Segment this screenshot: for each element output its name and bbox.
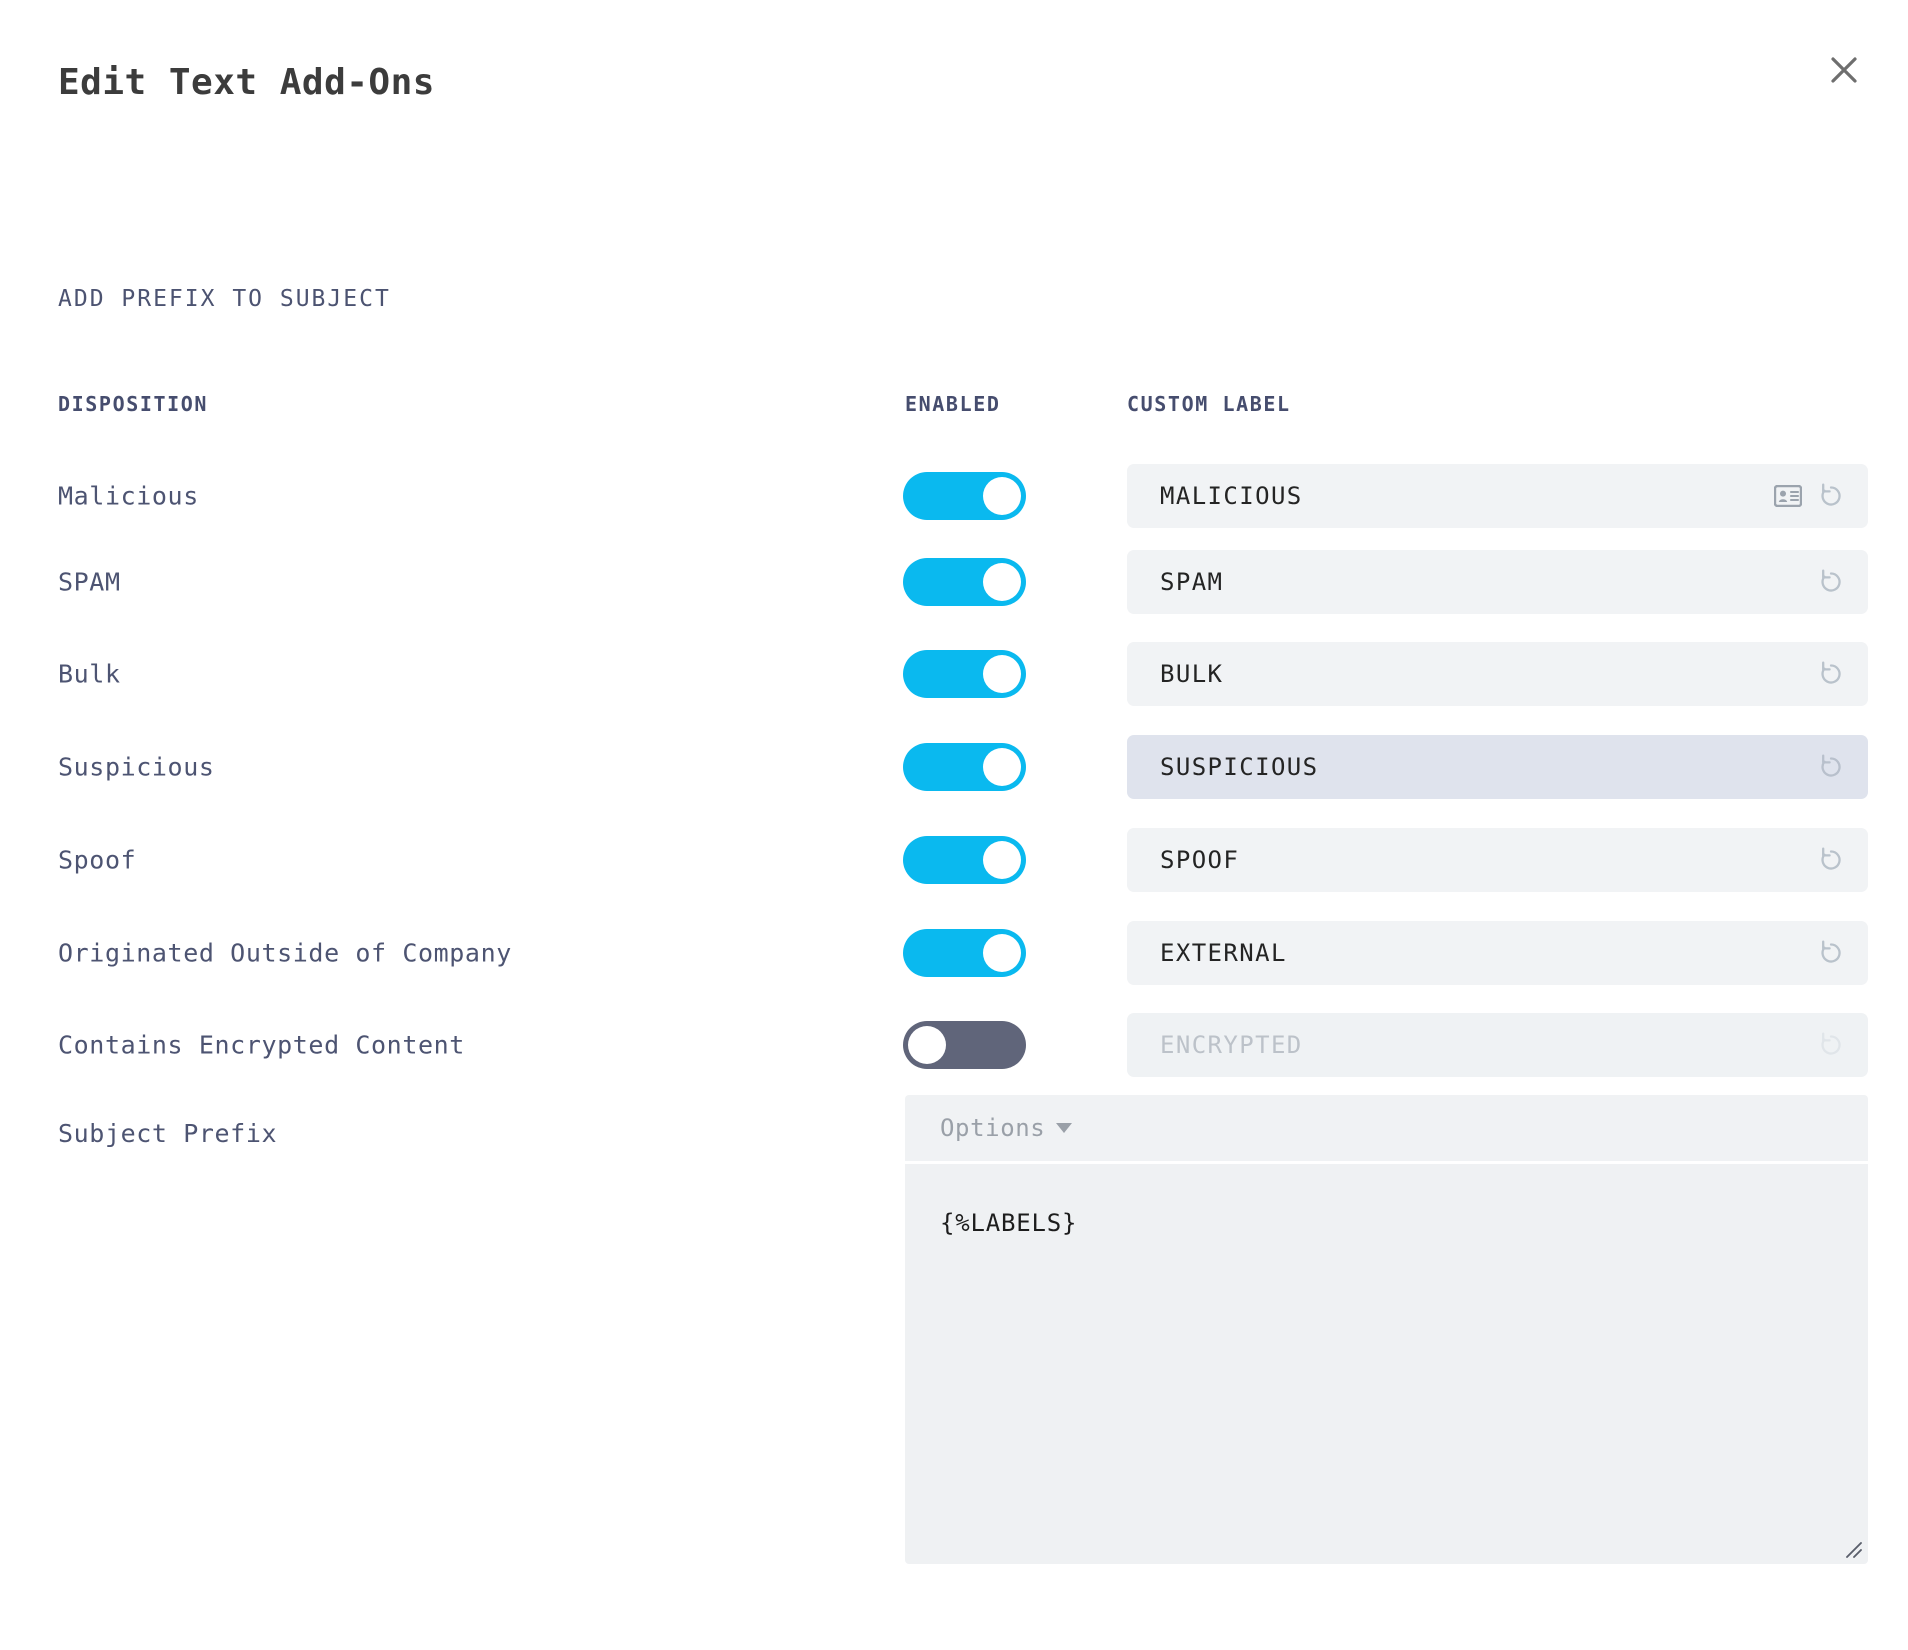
- subject-prefix-textarea[interactable]: {%LABELS}: [905, 1164, 1868, 1564]
- toggle-enabled-spoof[interactable]: [903, 836, 1026, 884]
- chevron-down-icon: [1056, 1123, 1072, 1133]
- reset-icon[interactable]: [1816, 845, 1846, 875]
- custom-label-input-spam[interactable]: SPAM: [1127, 550, 1868, 614]
- page-title: Edit Text Add-Ons: [58, 62, 435, 103]
- custom-label-value: SPAM: [1160, 568, 1223, 596]
- column-header-custom-label: CUSTOM LABEL: [1127, 392, 1291, 416]
- toggle-knob: [983, 841, 1021, 879]
- custom-label-value: MALICIOUS: [1160, 482, 1303, 510]
- editor-toolbar: Options: [905, 1095, 1868, 1161]
- table-row: SPAM SPAM: [0, 544, 1908, 620]
- table-row: Suspicious SUSPICIOUS: [0, 729, 1908, 805]
- edit-text-addons-dialog: Edit Text Add-Ons ADD PREFIX TO SUBJECT …: [0, 0, 1908, 1650]
- custom-label-value: BULK: [1160, 660, 1223, 688]
- reset-icon[interactable]: [1816, 938, 1846, 968]
- row-label-disposition: Malicious: [58, 482, 199, 511]
- toggle-knob: [983, 655, 1021, 693]
- close-button[interactable]: [1818, 44, 1870, 96]
- table-row: Spoof SPOOF: [0, 822, 1908, 898]
- custom-label-input-spoof[interactable]: SPOOF: [1127, 828, 1868, 892]
- custom-label-value: SPOOF: [1160, 846, 1239, 874]
- toggle-knob: [908, 1026, 946, 1064]
- reset-icon[interactable]: [1816, 567, 1846, 597]
- field-icon-group: [1816, 938, 1846, 968]
- reset-icon[interactable]: [1816, 481, 1846, 511]
- row-label-disposition: Originated Outside of Company: [58, 939, 512, 968]
- row-label-disposition: Contains Encrypted Content: [58, 1031, 465, 1060]
- subject-prefix-label: Subject Prefix: [58, 1119, 277, 1148]
- field-icon-group: [1816, 752, 1846, 782]
- custom-label-input-bulk[interactable]: BULK: [1127, 642, 1868, 706]
- toggle-knob: [983, 934, 1021, 972]
- custom-label-value: EXTERNAL: [1160, 939, 1287, 967]
- field-icon-group: [1816, 659, 1846, 689]
- reset-icon[interactable]: [1816, 659, 1846, 689]
- section-heading: ADD PREFIX TO SUBJECT: [58, 286, 391, 312]
- custom-label-input-malicious[interactable]: MALICIOUS: [1127, 464, 1868, 528]
- row-label-disposition: Spoof: [58, 846, 136, 875]
- custom-label-value: SUSPICIOUS: [1160, 753, 1319, 781]
- table-row: Contains Encrypted Content ENCRYPTED: [0, 1007, 1908, 1083]
- toggle-knob: [983, 477, 1021, 515]
- field-icon-group: [1816, 567, 1846, 597]
- toggle-knob: [983, 563, 1021, 601]
- custom-label-input-suspicious[interactable]: SUSPICIOUS: [1127, 735, 1868, 799]
- subject-prefix-textarea-value: {%LABELS}: [940, 1209, 1077, 1237]
- options-dropdown-button[interactable]: Options: [940, 1114, 1072, 1142]
- id-card-icon[interactable]: [1774, 485, 1802, 507]
- table-row: Bulk BULK: [0, 636, 1908, 712]
- resize-handle-icon[interactable]: [1841, 1537, 1863, 1559]
- options-label: Options: [940, 1114, 1045, 1142]
- field-icon-group: [1816, 845, 1846, 875]
- custom-label-input-encrypted: ENCRYPTED: [1127, 1013, 1868, 1077]
- column-header-enabled: ENABLED: [905, 392, 1001, 416]
- toggle-enabled-encrypted[interactable]: [903, 1021, 1026, 1069]
- toggle-enabled-spam[interactable]: [903, 558, 1026, 606]
- field-icon-group: [1816, 1030, 1846, 1060]
- column-header-disposition: DISPOSITION: [58, 392, 208, 416]
- toggle-enabled-bulk[interactable]: [903, 650, 1026, 698]
- field-icon-group: [1774, 481, 1846, 511]
- custom-label-value: ENCRYPTED: [1160, 1031, 1303, 1059]
- toggle-knob: [983, 748, 1021, 786]
- reset-icon[interactable]: [1816, 752, 1846, 782]
- toggle-enabled-suspicious[interactable]: [903, 743, 1026, 791]
- table-row: Malicious MALICIOUS: [0, 458, 1908, 534]
- row-label-disposition: Suspicious: [58, 753, 215, 782]
- toggle-enabled-external[interactable]: [903, 929, 1026, 977]
- close-icon: [1827, 53, 1861, 87]
- row-label-disposition: Bulk: [58, 660, 121, 689]
- row-label-disposition: SPAM: [58, 568, 121, 597]
- reset-icon: [1816, 1030, 1846, 1060]
- custom-label-input-external[interactable]: EXTERNAL: [1127, 921, 1868, 985]
- table-row: Originated Outside of Company EXTERNAL: [0, 915, 1908, 991]
- toggle-enabled-malicious[interactable]: [903, 472, 1026, 520]
